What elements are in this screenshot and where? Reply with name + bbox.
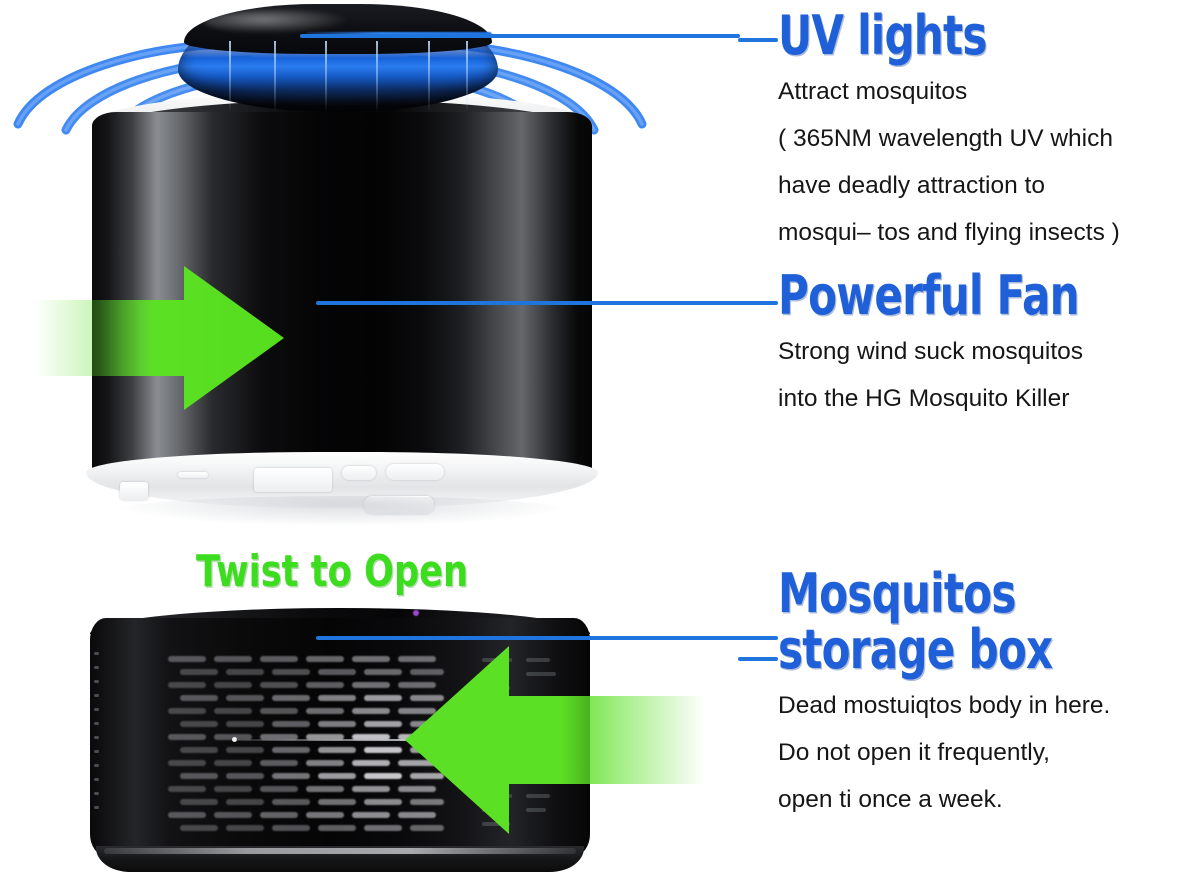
callout-line: Attract mosquitos <box>778 68 1120 115</box>
product-infographic: UV lights Attract mosquitos ( 365NM wave… <box>0 0 1192 890</box>
arrow-left-icon <box>405 630 705 850</box>
leader-line-storage-box <box>316 636 778 640</box>
unit-base-plate <box>86 452 598 536</box>
callout-powerful-fan: Powerful Fan Strong wind suck mosquitos … <box>778 268 1164 422</box>
callout-line: into the HG Mosquito Killer <box>778 375 1164 422</box>
callout-uv-lights: UV lights Attract mosquitos ( 365NM wave… <box>778 8 1120 256</box>
leader-line-powerful-fan <box>316 301 778 305</box>
twist-to-open-label: Twist to Open <box>196 546 468 597</box>
grille-pointer-line <box>236 739 416 741</box>
callout-line: ( 365NM wavelength UV which <box>778 115 1120 162</box>
callout-title-storage-box-line-2: storage box <box>778 622 1052 678</box>
callout-line: mosqui– tos and flying insects ) <box>778 209 1120 256</box>
callout-line: open ti once a week. <box>778 776 1130 823</box>
uv-lamp-dome <box>178 4 498 112</box>
arrow-right-icon <box>34 258 294 418</box>
indicator-dot <box>413 610 419 616</box>
callout-line: Do not open it frequently, <box>778 729 1130 776</box>
leader-line-uv-lights <box>738 38 778 42</box>
leader-line-dome-to-uv <box>300 34 740 38</box>
callout-line: Strong wind suck mosquitos <box>778 328 1164 375</box>
callout-title-uv-lights: UV lights <box>778 8 1045 64</box>
callout-mosquitos-storage-box: Mosquitos storage box Dead mostuiqtos bo… <box>778 566 1130 823</box>
callout-line: have deadly attraction to <box>778 162 1120 209</box>
leader-stub-storage-box <box>738 657 778 661</box>
callout-title-powerful-fan: Powerful Fan <box>778 268 1079 324</box>
callout-title-storage-box-line-1: Mosquitos <box>778 566 1052 622</box>
mosquito-storage-box-unit <box>0 600 740 890</box>
mosquito-killer-top-unit <box>0 0 740 560</box>
callout-line: Dead mostuiqtos body in here. <box>778 682 1130 729</box>
